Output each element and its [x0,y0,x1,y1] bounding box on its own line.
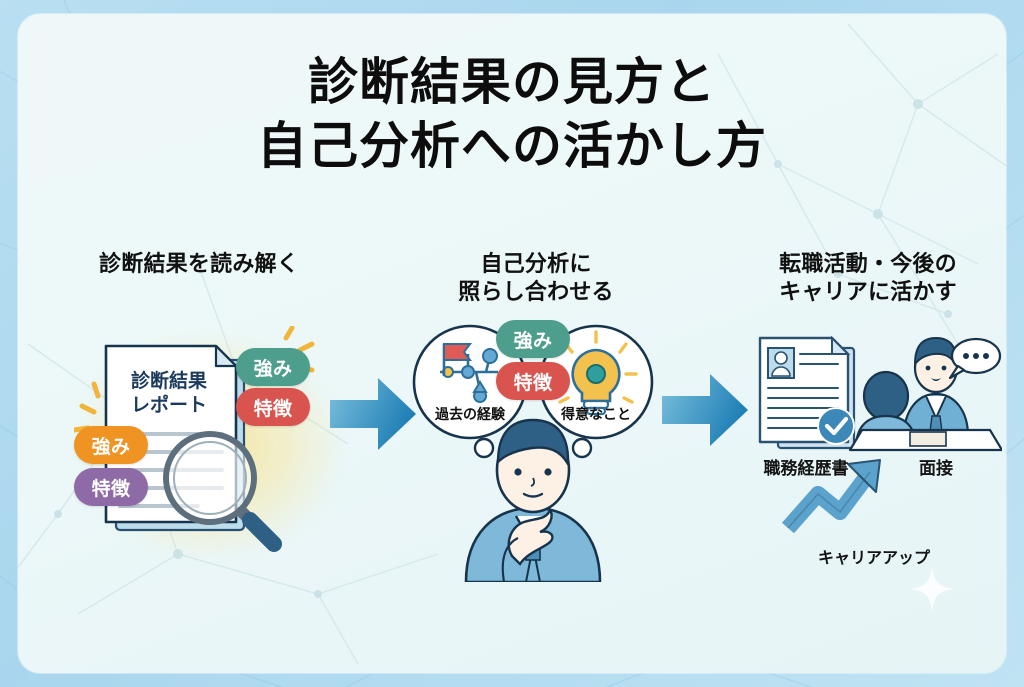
caption-career-up-text: キャリアアップ [818,550,930,567]
document-title: 診断結果 レポート [114,370,224,418]
caption-resume: 職務経歴書 [746,454,866,479]
document-title-line1: 診断結果 [114,370,224,394]
tag-label: 強み [92,432,131,459]
flow-arrow-2 [662,372,748,448]
caption-resume-text: 職務経歴書 [764,459,849,478]
tag-strength-teal[interactable]: 強み [236,348,310,386]
caption-interview: 面接 [874,454,998,479]
tag-label: 強み [254,354,293,381]
content-card: 診断結果の見方と 自己分析への活かし方 診断結果を読み解く 自己分析に 照らし合… [18,14,1006,673]
bubble-label-text: 過去の経験 [435,406,505,422]
step-1-heading-text: 診断結果を読み解く [99,251,299,276]
step-3-heading: 転職活動・今後の キャリアに活かす [730,250,1006,306]
bubble-label-text: 得意なこと [561,406,631,422]
step-2-heading: 自己分析に 照らし合わせる [416,250,656,306]
thinking-person-illustration [408,320,658,582]
bubble-label-past-experience: 過去の経験 [418,404,522,424]
page-title: 診断結果の見方と 自己分析への活かし方 [18,50,1006,178]
step-2-illustration: 過去の経験 得意なこと 強み 特徴 [408,320,658,582]
step-1-illustration: 診断結果 レポート 強み 特徴 強み 特徴 [74,326,350,566]
tag-label: 強み [514,326,553,353]
page-title-line2: 自己分析への活かし方 [18,114,1006,178]
resume-interview-illustration [744,332,1002,572]
slide-background: 診断結果の見方と 自己分析への活かし方 診断結果を読み解く 自己分析に 照らし合… [0,0,1024,687]
step-3-heading-line1: 転職活動・今後の [730,250,1006,278]
sparkle-icon [910,567,954,611]
step-3-heading-line2: キャリアに活かす [730,278,1006,306]
caption-interview-text: 面接 [919,459,953,478]
tag-label: 特徴 [254,394,293,421]
step-2-heading-line2: 照らし合わせる [416,278,656,306]
tag-label: 特徴 [92,474,131,501]
flow-arrow-1 [330,376,416,452]
step-2-heading-line1: 自己分析に [416,250,656,278]
document-title-line2: レポート [114,394,224,418]
tag-strength-orange[interactable]: 強み [74,426,148,464]
page-title-line1: 診断結果の見方と [308,54,716,110]
tag-label: 特徴 [514,368,553,395]
tag-strength-teal-2[interactable]: 強み [496,320,570,358]
tag-feature-red[interactable]: 特徴 [236,388,310,426]
tag-feature-red-2[interactable]: 特徴 [496,362,570,400]
step-1-heading: 診断結果を読み解く [60,250,338,278]
caption-career-up: キャリアアップ [784,544,964,568]
tag-feature-purple[interactable]: 特徴 [74,468,148,506]
step-3-illustration: 職務経歴書 面接 キャリアアップ [744,332,1002,572]
bubble-label-good-at: 得意なこと [544,404,648,424]
